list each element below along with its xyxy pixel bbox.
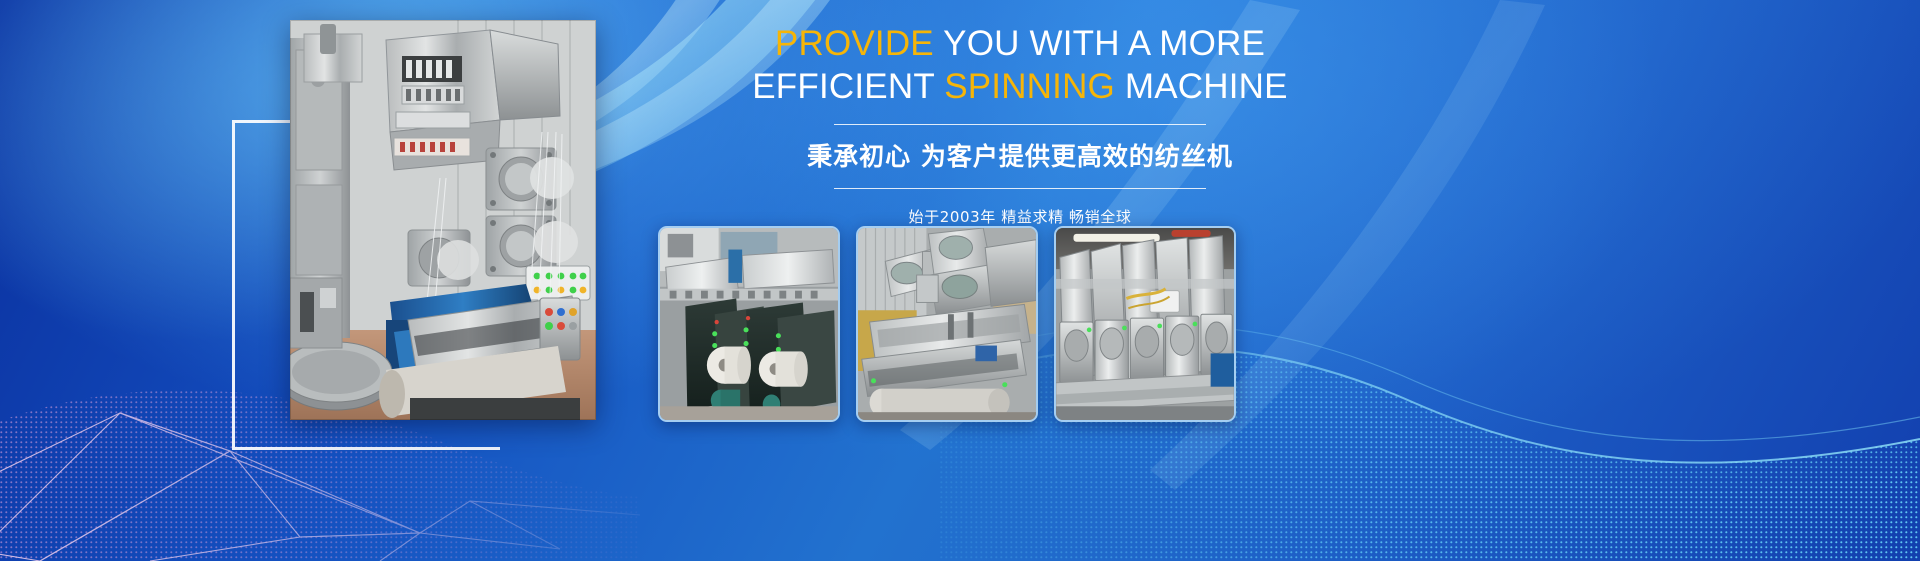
headline-line-1-rest: YOU WITH A MORE: [934, 24, 1265, 63]
chinese-tagline: 始于2003年 精益求精 畅销全球: [700, 206, 1340, 228]
banner-copy-block: PROVIDE YOU WITH A MORE EFFICIENT SPINNI…: [700, 22, 1340, 228]
thumbnail-1[interactable]: [658, 226, 840, 422]
headline-line-2: EFFICIENT SPINNING MACHINE: [700, 65, 1340, 108]
divider-bottom: [834, 188, 1206, 189]
headline-highlight-provide: PROVIDE: [775, 24, 934, 63]
headline-line-1: PROVIDE YOU WITH A MORE: [700, 22, 1340, 65]
thumbnail-2[interactable]: [856, 226, 1038, 422]
promo-banner: PROVIDE YOU WITH A MORE EFFICIENT SPINNI…: [0, 0, 1920, 561]
headline-line-2-prefix: EFFICIENT: [752, 67, 944, 106]
headline-highlight-spinning: SPINNING: [944, 67, 1115, 106]
divider-top: [834, 124, 1206, 125]
thumbnail-3[interactable]: [1054, 226, 1236, 422]
headline-line-2-suffix: MACHINE: [1115, 67, 1288, 106]
thumbnail-row: [658, 226, 1236, 422]
hero-machine-photo: [290, 20, 596, 420]
chinese-headline: 秉承初心 为客户提供更高效的纺丝机: [700, 140, 1340, 173]
